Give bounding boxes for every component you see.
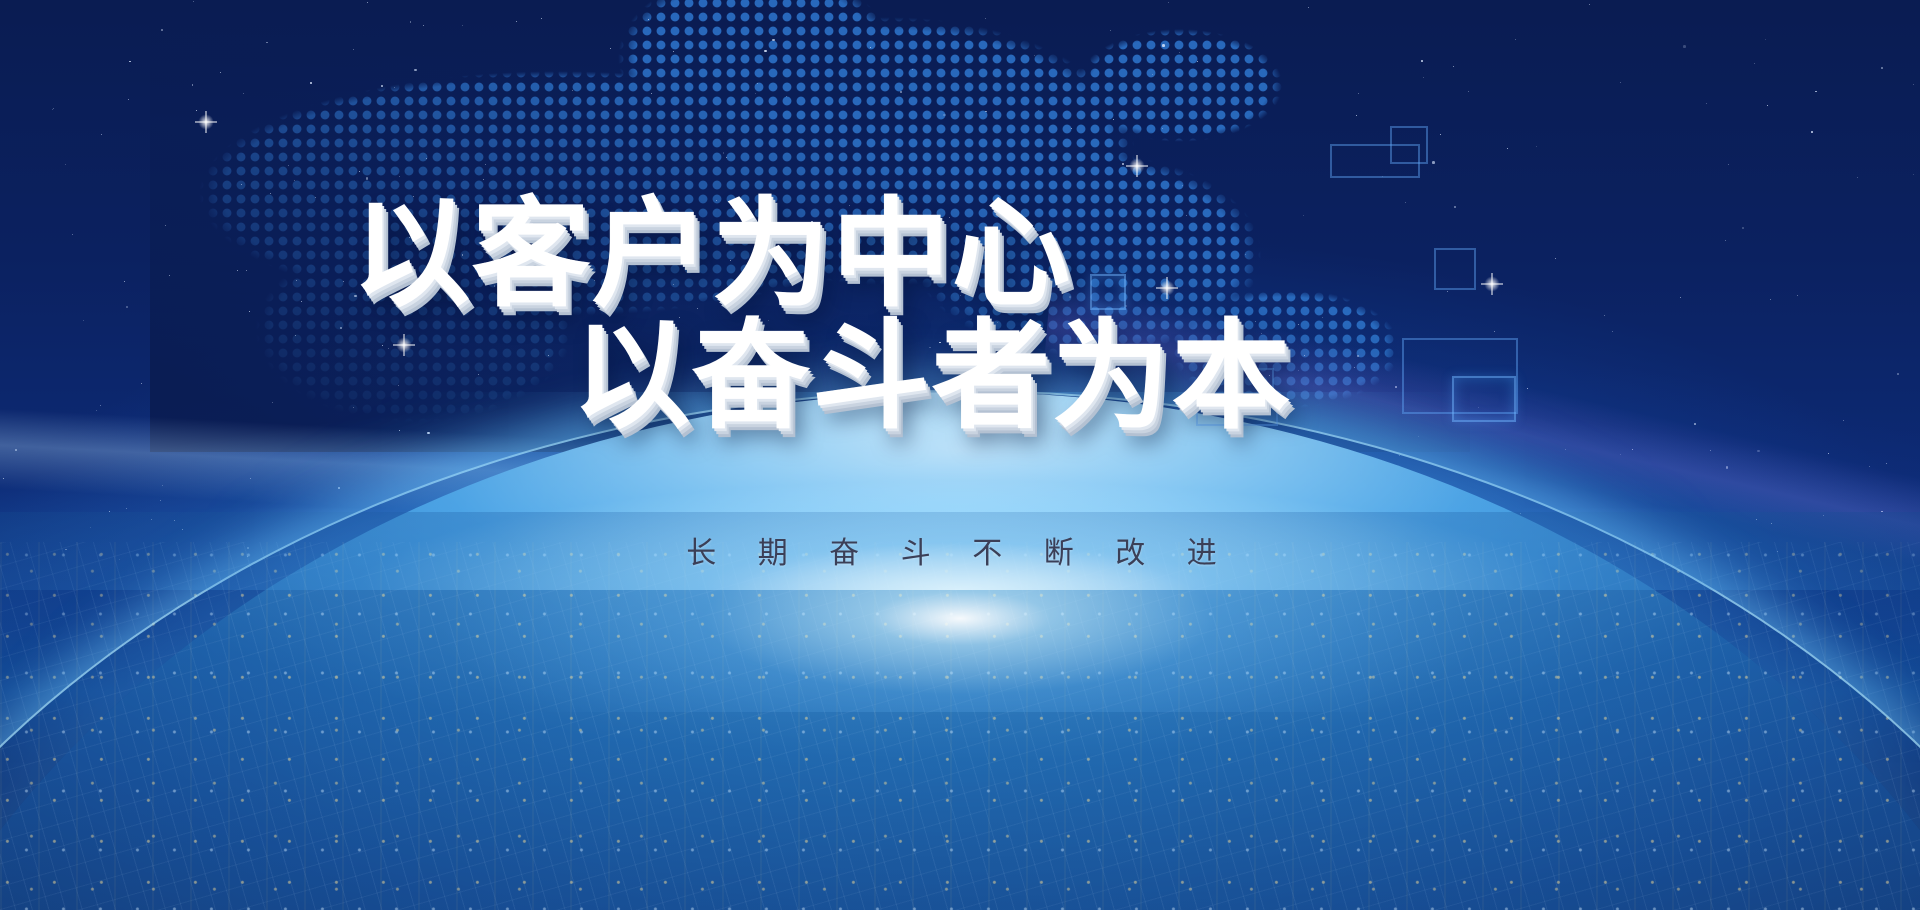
earth-globe <box>0 392 1920 910</box>
deco-rect-7 <box>1452 376 1516 422</box>
city-light-dots <box>0 542 1920 910</box>
deco-rect-8 <box>1196 392 1278 426</box>
deco-rect-2 <box>1390 126 1428 164</box>
deco-rect-3 <box>1090 274 1126 310</box>
poster-canvas: 以客户为中心 以奋斗者为本 长 期 奋 斗 不 断 改 进 <box>0 0 1920 910</box>
deco-rect-4 <box>1434 248 1476 290</box>
earth-sphere <box>0 392 1920 910</box>
